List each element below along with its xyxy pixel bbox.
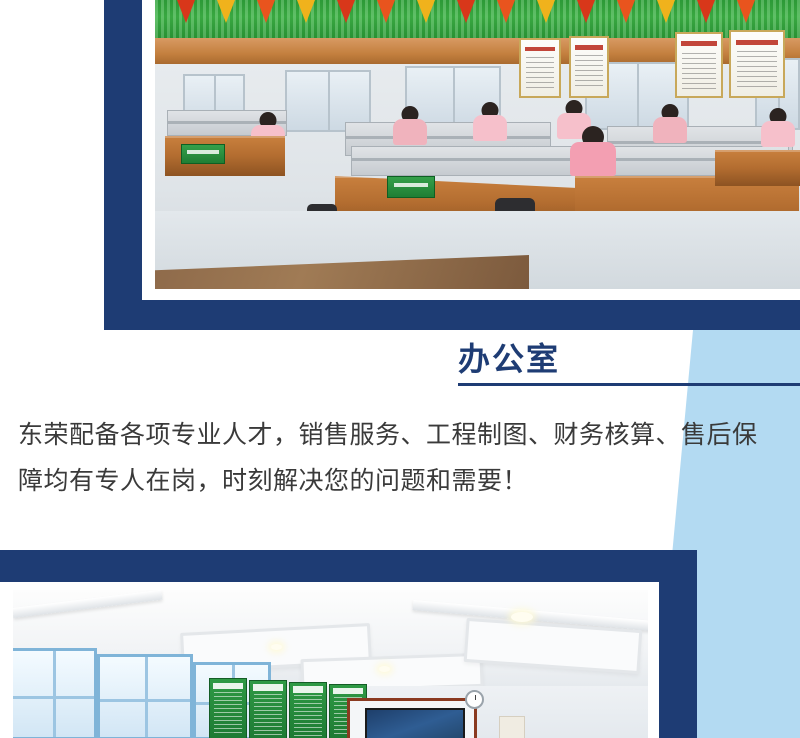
notice-board — [289, 682, 327, 738]
bunting-flag — [537, 0, 555, 23]
projector-screen — [365, 708, 465, 738]
ceiling-downlight — [271, 644, 282, 650]
seated-person — [473, 102, 507, 142]
notice-board — [249, 680, 287, 738]
ceiling-downlight — [379, 666, 390, 672]
bunting-flag — [657, 0, 675, 23]
bunting-flag — [457, 0, 475, 23]
bunting-flag — [297, 0, 315, 23]
room-window — [97, 654, 193, 738]
room-window — [13, 648, 97, 738]
wall-poster — [675, 32, 723, 98]
seated-person-foreground — [573, 126, 613, 176]
section-title: 办公室 — [458, 338, 560, 380]
wall-clock — [465, 690, 484, 709]
office-open-plan-photo — [155, 0, 800, 289]
department-sign-waimao1 — [181, 144, 225, 164]
bunting-flag — [377, 0, 395, 23]
bunting-flag — [417, 0, 435, 23]
description-line-2: 障均有专人在岗，时刻解决您的问题和需要！ — [18, 458, 800, 504]
section-title-wrap: 办公室 — [458, 338, 560, 380]
ceiling-downlight — [511, 612, 533, 622]
bunting-flag — [497, 0, 515, 23]
section-description: 东荣配备各项专业人才，销售服务、工程制图、财务核算、售后保 障均有专人在岗，时刻… — [18, 412, 800, 504]
bunting-flag — [697, 0, 715, 23]
bunting-flag — [257, 0, 275, 23]
meeting-room-photo — [13, 590, 648, 738]
seated-person — [653, 104, 687, 144]
wall-poster — [569, 36, 609, 98]
bunting-flag — [617, 0, 635, 23]
bunting-flag — [337, 0, 355, 23]
department-sign-dianshang — [387, 176, 435, 198]
wall-poster — [519, 38, 561, 98]
seated-person — [761, 108, 795, 148]
workstation-desk — [715, 150, 800, 186]
notice-board — [209, 678, 247, 738]
wall-shelf — [499, 716, 525, 738]
description-line-1: 东荣配备各项专业人才，销售服务、工程制图、财务核算、售后保 — [18, 412, 800, 458]
wall-poster — [729, 30, 785, 98]
seated-person — [393, 106, 427, 146]
bunting-flag — [217, 0, 235, 23]
title-underline-rule — [458, 383, 800, 386]
bunting-flag — [737, 0, 755, 23]
page-root: 办公室 东荣配备各项专业人才，销售服务、工程制图、财务核算、售后保 障均有专人在… — [0, 0, 800, 738]
bunting-flag — [177, 0, 195, 23]
bunting-flag — [577, 0, 595, 23]
